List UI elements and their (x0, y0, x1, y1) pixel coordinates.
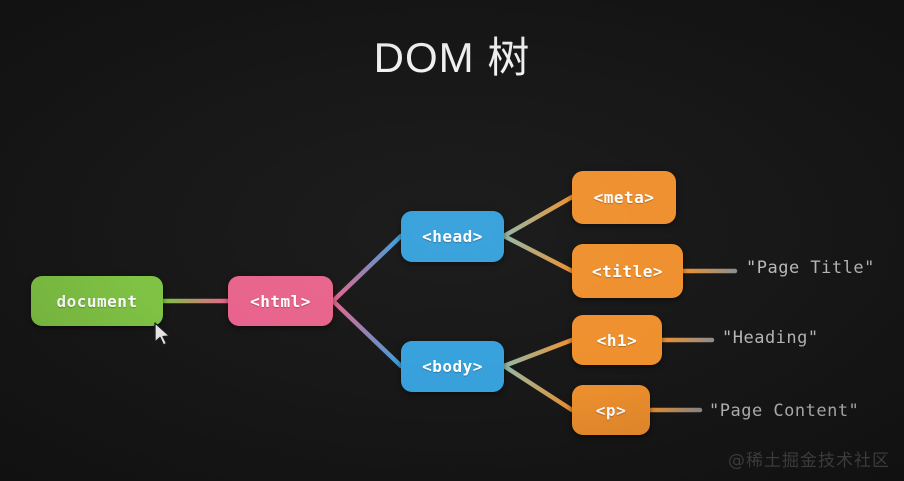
edge-head-meta (504, 197, 572, 236)
dom-tree-diagram: DOM 树 document<html><head><body><meta><t… (0, 0, 904, 481)
node-h1[interactable]: <h1> (572, 315, 662, 365)
edge-html-body (333, 301, 401, 366)
edge-body-p (504, 366, 572, 410)
node-label: <title> (592, 262, 663, 281)
node-label: <h1> (597, 331, 638, 350)
node-label: <meta> (594, 188, 655, 207)
node-html[interactable]: <html> (228, 276, 333, 326)
edge-head-title (504, 236, 572, 271)
node-p[interactable]: <p> (572, 385, 650, 435)
node-label: <p> (596, 401, 626, 420)
node-label: <head> (422, 227, 483, 246)
node-label: <body> (422, 357, 483, 376)
watermark: @稀土掘金技术社区 (728, 446, 890, 471)
node-document[interactable]: document (31, 276, 163, 326)
edge-body-h1 (504, 340, 572, 366)
node-body[interactable]: <body> (401, 341, 504, 392)
node-label: document (56, 292, 137, 311)
node-head[interactable]: <head> (401, 211, 504, 262)
node-titletag[interactable]: <title> (572, 244, 683, 298)
edge-html-head (333, 236, 401, 301)
node-meta[interactable]: <meta> (572, 171, 676, 224)
leaf-text-page-content-text: "Page Content" (709, 401, 859, 421)
leaf-text-page-title-text: "Page Title" (746, 258, 875, 278)
node-label: <html> (250, 292, 311, 311)
leaf-text-heading-text: "Heading" (722, 328, 819, 348)
